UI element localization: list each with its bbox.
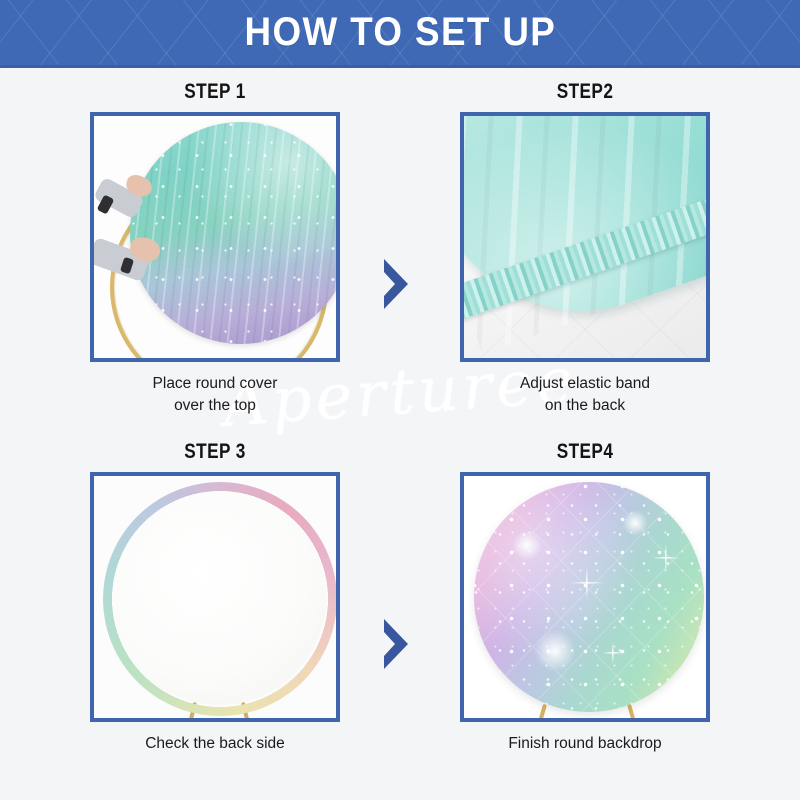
sparkle-icon <box>652 544 680 572</box>
step-label-2: STEP2 <box>446 80 725 104</box>
pastel-rim-edge <box>103 482 336 716</box>
sparkle-icon <box>602 642 624 664</box>
step-label-3: STEP 3 <box>76 440 355 464</box>
chevron-right-icon <box>378 258 412 310</box>
page-title: HOW TO SET UP <box>244 10 556 55</box>
step-label-1: STEP 1 <box>76 80 355 104</box>
star-glow-icon <box>534 630 576 672</box>
step-caption-3-line1: Check the back side <box>45 733 385 755</box>
steps-grid: STEP 1 Place round cover over <box>0 68 800 800</box>
step-caption-1-line1: Place round cover <box>45 373 385 395</box>
step-photo-2 <box>464 116 706 358</box>
step-photo-3 <box>94 476 336 718</box>
step-caption-2-line2: on the back <box>415 395 755 417</box>
step-label-4: STEP4 <box>446 440 725 464</box>
step-caption-3: Check the back side <box>45 733 385 755</box>
step-card-2: STEP2 Adjust elastic band on the back <box>415 80 755 418</box>
hands-group <box>94 174 164 324</box>
step-caption-1: Place round cover over the top <box>45 373 385 418</box>
step-card-4: STEP4 Finish round backdrop <box>415 440 755 755</box>
step-caption-2: Adjust elastic band on the back <box>415 373 755 418</box>
star-glow-icon <box>512 530 542 560</box>
step-caption-4: Finish round backdrop <box>415 733 755 755</box>
chevron-right-icon <box>378 618 412 670</box>
step-photo-frame-3 <box>90 472 340 722</box>
step-card-3: STEP 3 Check the back side <box>45 440 385 755</box>
step-caption-2-line1: Adjust elastic band <box>415 373 755 395</box>
sparkle-icon <box>570 566 604 600</box>
step-photo-frame-4 <box>460 472 710 722</box>
star-glow-icon <box>622 510 648 536</box>
step-caption-4-line1: Finish round backdrop <box>415 733 755 755</box>
finished-backdrop-disc <box>474 482 704 712</box>
step-photo-4 <box>464 476 706 718</box>
step-photo-1 <box>94 116 336 358</box>
step-card-1: STEP 1 Place round cover over <box>45 80 385 418</box>
page-header: HOW TO SET UP <box>0 0 800 68</box>
step-caption-1-line2: over the top <box>45 395 385 417</box>
step-photo-frame-2 <box>460 112 710 362</box>
step-photo-frame-1 <box>90 112 340 362</box>
